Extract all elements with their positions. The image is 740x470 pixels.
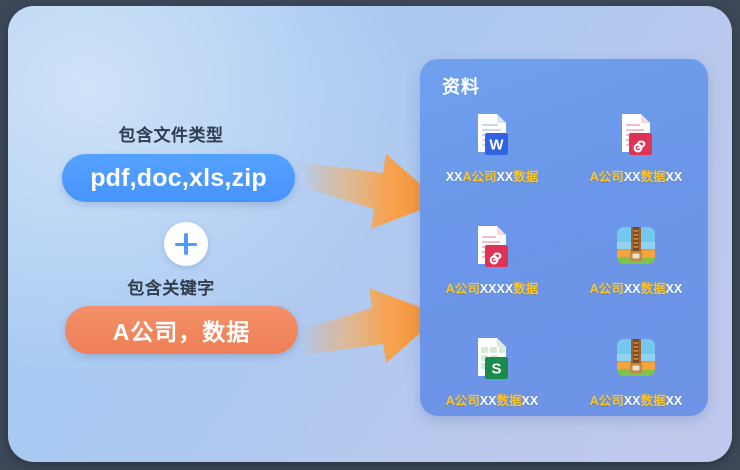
- file-type-caption: 包含文件类型: [26, 121, 316, 146]
- svg-text:S: S: [491, 361, 501, 378]
- results-panel: 资料 W XXA公司XX数据 A公司XX数据XX: [420, 59, 708, 416]
- results-panel-title: 资料: [442, 73, 480, 99]
- file-item[interactable]: A公司XX数据XX: [564, 107, 708, 199]
- file-item-label: XXA公司XX数据: [446, 166, 538, 185]
- file-item[interactable]: W XXA公司XX数据: [420, 107, 564, 199]
- pdf-file-icon: [468, 219, 516, 271]
- pdf-file-icon: [612, 107, 660, 159]
- criteria-column: 包含文件类型 pdf,doc,xls,zip 包含关键字 A公司，数据: [8, 6, 338, 462]
- file-item[interactable]: S A公司XX数据XX: [420, 331, 564, 423]
- results-file-grid: W XXA公司XX数据 A公司XX数据XX A公司XXXX数据: [420, 107, 708, 423]
- svg-text:W: W: [489, 137, 504, 154]
- word-file-icon: W: [468, 107, 516, 159]
- file-item-label: A公司XX数据XX: [590, 166, 682, 185]
- file-item[interactable]: A公司XXXX数据: [420, 219, 564, 311]
- file-item[interactable]: A公司XX数据XX: [564, 219, 708, 311]
- keyword-pill-label: A公司，数据: [113, 313, 251, 347]
- excel-file-icon: S: [468, 331, 516, 383]
- keyword-pill[interactable]: A公司，数据: [65, 306, 298, 354]
- file-item-label: A公司XX数据XX: [590, 278, 682, 297]
- zip-file-icon: [612, 331, 660, 383]
- file-item-label: A公司XX数据XX: [446, 390, 538, 409]
- zip-file-icon: [612, 219, 660, 271]
- file-type-pill[interactable]: pdf,doc,xls,zip: [62, 154, 295, 202]
- file-item[interactable]: A公司XX数据XX: [564, 331, 708, 423]
- keyword-caption: 包含关键字: [26, 274, 316, 299]
- file-item-label: A公司XXXX数据: [446, 278, 538, 297]
- file-type-pill-label: pdf,doc,xls,zip: [90, 164, 267, 193]
- file-item-label: A公司XX数据XX: [590, 390, 682, 409]
- illustration-card: 包含文件类型 pdf,doc,xls,zip 包含关键字 A公司，数据: [8, 6, 732, 462]
- plus-operator-icon: [164, 222, 208, 266]
